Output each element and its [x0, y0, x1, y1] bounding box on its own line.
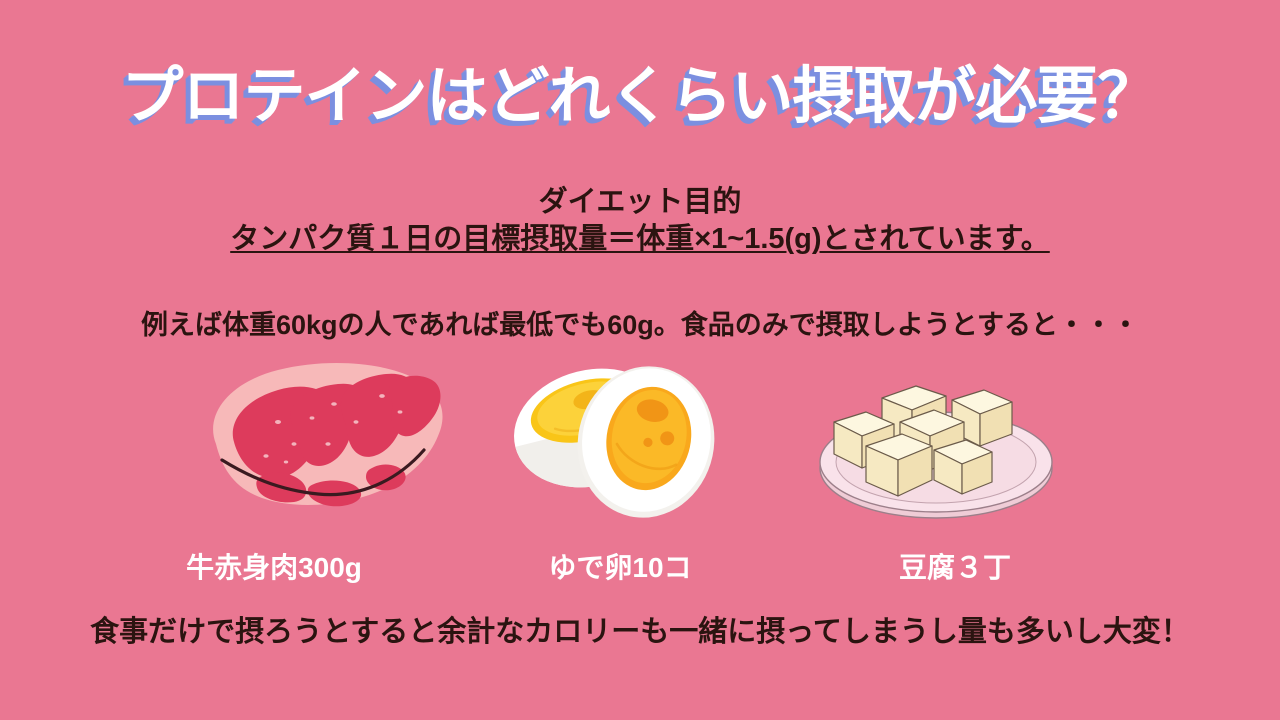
slide-canvas: プロテインはどれくらい摂取が必要？ ダイエット目的 タンパク質１日の目標摂取量＝…: [0, 0, 1280, 720]
example-line: 例えば体重60kgの人であれば最低でも60g。食品のみで摂取しようとすると・・・: [0, 303, 1280, 342]
food-label-beef: 牛赤身肉300g: [114, 546, 434, 586]
subtitle-line-1: ダイエット目的: [0, 184, 1280, 221]
food-item-tofu: [812, 360, 1060, 524]
tofu-plate-icon: [812, 360, 1060, 524]
food-label-egg: ゆで卵10コ: [460, 546, 780, 586]
beef-steak-icon: [186, 352, 452, 520]
boiled-egg-icon: [496, 358, 746, 520]
page-title: プロテインはどれくらい摂取が必要？: [0, 62, 1280, 131]
footer-line: 食事だけで摂ろうとすると余計なカロリーも一緒に摂ってしまうし量も多いし大変！: [0, 608, 1280, 650]
subtitle-line-2: タンパク質１日の目標摂取量＝体重×1~1.5(g)とされています。: [0, 221, 1280, 258]
food-item-egg: [496, 358, 746, 520]
food-label-tofu: 豆腐３丁: [795, 546, 1115, 586]
food-item-beef: [186, 352, 452, 520]
subtitle-block: ダイエット目的 タンパク質１日の目標摂取量＝体重×1~1.5(g)とされています…: [0, 184, 1280, 257]
